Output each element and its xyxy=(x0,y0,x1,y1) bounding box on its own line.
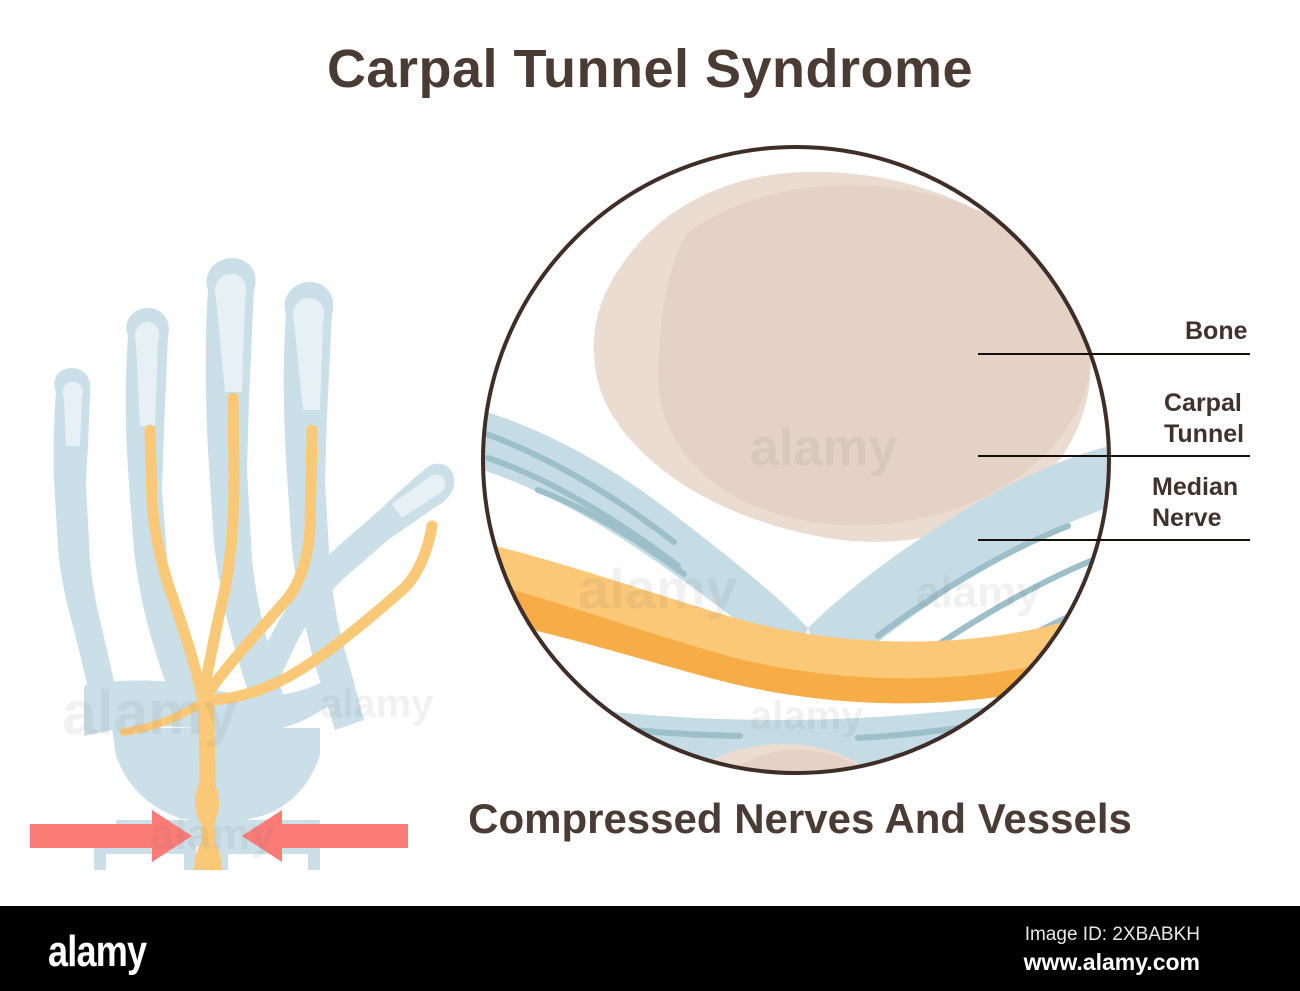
hand-skeleton-diagram: alamy alamy alamy xyxy=(20,130,460,870)
illustration-canvas: Carpal Tunnel Syndrome xyxy=(0,0,1300,991)
label-bone: Bone xyxy=(1185,316,1248,347)
label-bone-text: Bone xyxy=(1185,317,1248,345)
leader-line-median-nerve xyxy=(978,539,1250,541)
diagram-caption: Compressed Nerves And Vessels xyxy=(380,795,1220,843)
label-median-nerve-line1: Median xyxy=(1152,472,1238,503)
stock-photo-footer: alamy Image ID: 2XBABKH www.alamy.com xyxy=(0,906,1300,991)
alamy-logo: alamy xyxy=(48,927,146,977)
page-title: Carpal Tunnel Syndrome xyxy=(0,38,1300,100)
leader-line-bone xyxy=(978,353,1250,355)
leader-line-carpal-tunnel xyxy=(978,455,1250,457)
alamy-url-text: www.alamy.com xyxy=(1024,949,1200,976)
hand-bones-group xyxy=(54,258,455,870)
label-carpal-tunnel-line2: Tunnel xyxy=(1164,419,1244,450)
carpal-tunnel-cross-section: alamy alamy alamy alamy xyxy=(478,138,1118,784)
label-median-nerve-line2: Nerve xyxy=(1152,503,1238,534)
label-carpal-tunnel: Carpal Tunnel xyxy=(1164,388,1244,450)
label-carpal-tunnel-line1: Carpal xyxy=(1164,388,1244,419)
image-id-text: Image ID: 2XBABKH xyxy=(1025,924,1200,946)
label-median-nerve: Median Nerve xyxy=(1152,472,1238,534)
